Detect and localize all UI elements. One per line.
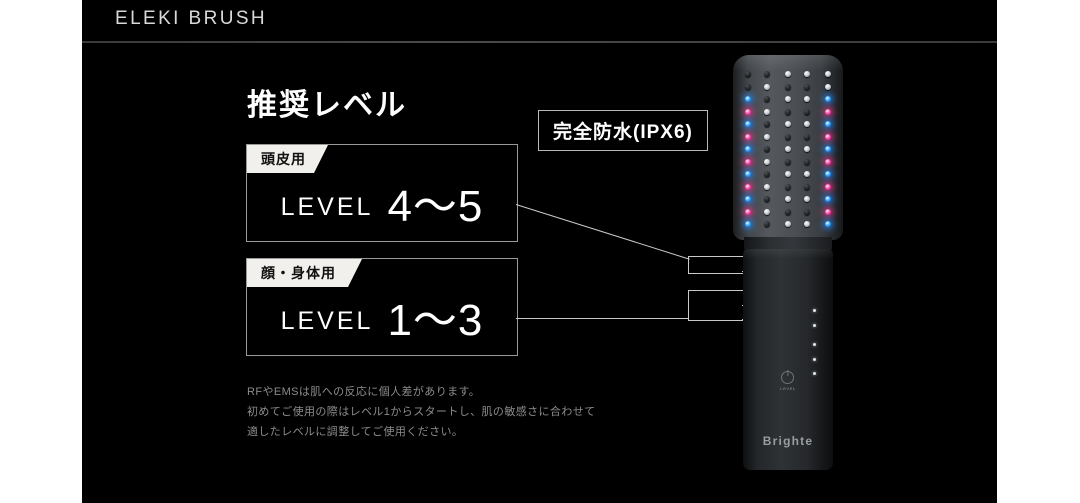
bristle-dot: [785, 134, 791, 140]
led-dot: [825, 121, 831, 127]
level-card-scalp-body: LEVEL 4～5: [247, 173, 517, 241]
bristle-dot: [785, 96, 791, 102]
led-dot: [745, 134, 751, 140]
led-dot: [825, 109, 831, 115]
led-dot: [825, 221, 831, 227]
bristle-dot: [764, 109, 770, 115]
level-card-face-body-body: LEVEL 1～3: [247, 287, 517, 355]
bristle-dot: [785, 121, 791, 127]
led-indicator-2: [813, 324, 816, 327]
leader-line-face-body: [516, 318, 688, 319]
power-button-label: LEVEL: [780, 386, 796, 391]
bristle-dot: [785, 71, 791, 77]
waterproof-badge: 完全防水(IPX6): [538, 110, 708, 151]
led-dot: [745, 221, 751, 227]
bristle-dot: [804, 109, 810, 115]
brand-logo: Brighte: [743, 434, 833, 448]
bristle-dot: [804, 134, 810, 140]
bristle-dot: [785, 84, 791, 90]
bristle-dot: [764, 96, 770, 102]
led-dot: [745, 159, 751, 165]
bristle-dot: [804, 196, 810, 202]
bristle-dot: [804, 221, 810, 227]
led-dot: [745, 109, 751, 115]
usage-note: RFやEMSは肌への反応に個人差があります。 初めてご使用の際はレベル1からスタ…: [247, 382, 647, 442]
bristle-dot: [785, 196, 791, 202]
led-dot: [825, 209, 831, 215]
led-dot: [745, 71, 751, 77]
led-dot: [745, 171, 751, 177]
led-dot: [745, 96, 751, 102]
led-dot: [825, 84, 831, 90]
bristle-dot: [764, 196, 770, 202]
level-card-scalp-tag: 頭皮用: [247, 145, 328, 173]
power-button[interactable]: LEVEL: [780, 371, 796, 391]
bristle-dot: [764, 221, 770, 227]
usage-note-line-2: 初めてご使用の際はレベル1からスタートし、肌の敏感さに合わせて: [247, 402, 647, 422]
level-value: 1～3: [387, 299, 483, 343]
led-dot: [825, 184, 831, 190]
usage-note-line-1: RFやEMSは肌への反応に個人差があります。: [247, 382, 647, 402]
leader-line-scalp: [516, 204, 690, 260]
level-value: 4～5: [387, 185, 483, 229]
bristle-dot: [764, 121, 770, 127]
usage-note-line-3: 適したレベルに調整してご使用ください。: [247, 422, 647, 442]
bristle-dot: [764, 159, 770, 165]
bristle-dot: [804, 171, 810, 177]
led-dot: [745, 84, 751, 90]
led-dot: [825, 171, 831, 177]
bristle-dot: [785, 184, 791, 190]
led-dot: [825, 71, 831, 77]
bristle-dot: [764, 134, 770, 140]
led-indicator-1: [813, 309, 816, 312]
bristle-dot: [785, 146, 791, 152]
led-indicator-3: [813, 343, 816, 346]
product-slide: ELEKI BRUSH 推奨レベル 頭皮用 LEVEL 4～5 顔・身体用 LE…: [82, 0, 997, 503]
bristle-dot: [764, 184, 770, 190]
level-card-face-body-tag: 顔・身体用: [247, 259, 362, 287]
product-device: LEVEL Brighte: [730, 55, 846, 470]
bristle-dot: [764, 71, 770, 77]
led-indicator-4: [813, 358, 816, 361]
led-dot: [745, 146, 751, 152]
bristle-dot: [764, 209, 770, 215]
bristle-dot: [804, 96, 810, 102]
bristle-dot: [785, 221, 791, 227]
led-dot: [745, 121, 751, 127]
letterbox-left: [0, 0, 82, 503]
brush-bristles: [733, 55, 843, 240]
level-card-scalp: 頭皮用 LEVEL 4～5: [246, 144, 518, 242]
level-word: LEVEL: [281, 307, 374, 336]
device-body: LEVEL Brighte: [743, 249, 833, 470]
bristle-dot: [785, 159, 791, 165]
led-dot: [825, 159, 831, 165]
screenshot-root: ELEKI BRUSH 推奨レベル 頭皮用 LEVEL 4～5 顔・身体用 LE…: [0, 0, 1080, 503]
bristle-dot: [804, 84, 810, 90]
led-dot: [825, 134, 831, 140]
letterbox-right: [997, 0, 1080, 503]
header-divider: [82, 41, 997, 43]
brush-head: [733, 55, 843, 240]
led-dot: [825, 96, 831, 102]
section-title: 推奨レベル: [247, 80, 407, 124]
bristle-dot: [785, 209, 791, 215]
bristle-dot: [804, 159, 810, 165]
led-dot: [745, 209, 751, 215]
bristle-dot: [804, 146, 810, 152]
bristle-dot: [804, 184, 810, 190]
power-icon: [781, 371, 794, 384]
level-word: LEVEL: [281, 193, 374, 222]
bristle-dot: [764, 84, 770, 90]
bristle-dot: [764, 146, 770, 152]
led-indicator-5: [813, 372, 816, 375]
bristle-dot: [785, 171, 791, 177]
bristle-dot: [804, 121, 810, 127]
bristle-dot: [785, 109, 791, 115]
page-title: ELEKI BRUSH: [115, 8, 267, 30]
bristle-dot: [764, 171, 770, 177]
led-dot: [745, 184, 751, 190]
level-card-face-body: 顔・身体用 LEVEL 1～3: [246, 258, 518, 356]
led-dot: [745, 196, 751, 202]
bristle-dot: [804, 209, 810, 215]
bristle-dot: [804, 71, 810, 77]
led-dot: [825, 146, 831, 152]
led-dot: [825, 196, 831, 202]
